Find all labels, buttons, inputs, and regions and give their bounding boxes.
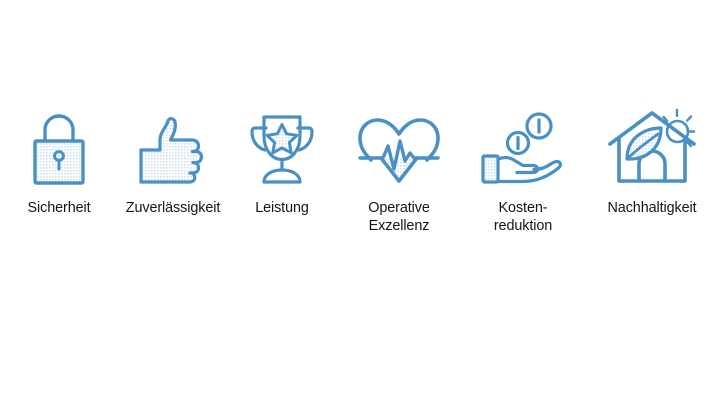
benefit-item-nachhaltigkeit[interactable]: Nachhaltigkeit [584,108,720,218]
padlock-icon [28,108,90,186]
benefit-item-kostenreduktion[interactable]: Kosten- reduktion [462,108,584,235]
benefit-item-leistung[interactable]: Leistung [228,108,336,218]
heart-pulse-down-arrow-icon [352,108,446,186]
icon-row-graphic: Sicherheit Zuverlässigkeit [0,0,720,405]
thumbs-up-icon [136,108,210,186]
benefit-label: Kosten- reduktion [494,200,552,235]
benefit-item-operative-exzellenz[interactable]: Operative Exzellenz [336,108,462,235]
hand-coins-icon [479,108,567,186]
benefits-row: Sicherheit Zuverlässigkeit [0,108,720,258]
benefit-label: Sicherheit [28,200,91,218]
eco-house-leaf-sun-icon [606,108,698,186]
benefit-label: Leistung [255,200,309,218]
benefit-label: Zuverlässigkeit [126,200,220,218]
benefit-item-zuverlaessigkeit[interactable]: Zuverlässigkeit [118,108,228,218]
benefit-label: Operative Exzellenz [368,200,430,235]
benefit-item-sicherheit[interactable]: Sicherheit [0,108,118,218]
benefit-label: Nachhaltigkeit [608,200,697,218]
trophy-icon [249,108,315,186]
